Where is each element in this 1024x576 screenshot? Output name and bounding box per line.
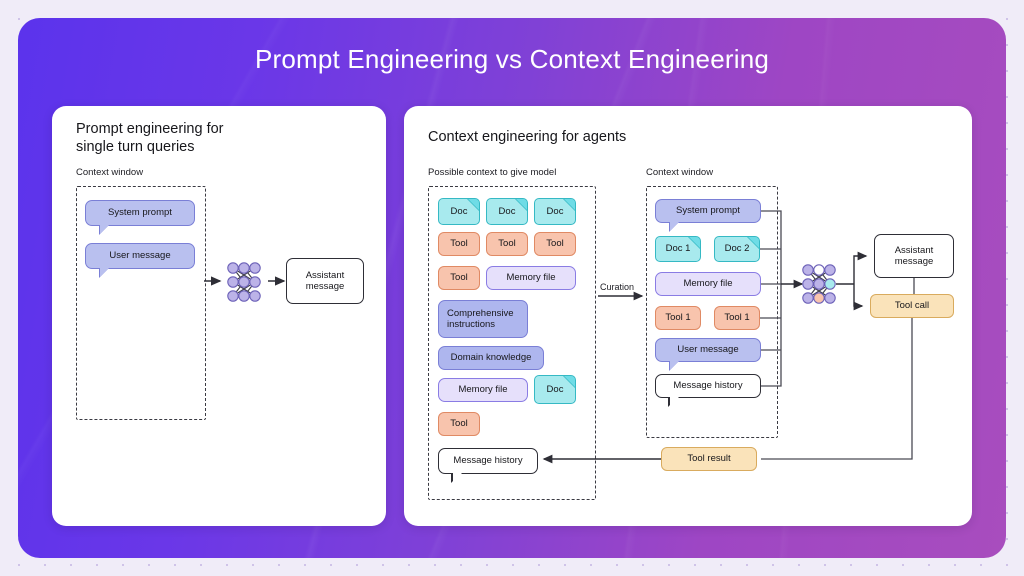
node-doc-4[interactable]: Doc (534, 375, 576, 404)
node-label: User message (109, 250, 170, 262)
node-memory-file-1[interactable]: Memory file (486, 266, 576, 290)
node-cw-tool-2[interactable]: Tool 1 (714, 306, 760, 330)
node-label: Doc 1 (666, 243, 691, 255)
node-label-line1: Assistant (895, 245, 934, 257)
node-cw-message-history[interactable]: Message history (655, 374, 761, 398)
node-doc-3[interactable]: Doc (534, 198, 576, 225)
node-label: Message history (453, 455, 522, 467)
node-memory-file-2[interactable]: Memory file (438, 378, 528, 402)
node-cw-doc-2[interactable]: Doc 2 (714, 236, 760, 262)
node-label: Domain knowledge (451, 352, 532, 364)
node-tool-call[interactable]: Tool call (870, 294, 954, 318)
left-context-window-label: Context window (76, 167, 143, 178)
node-label-line2: message (895, 256, 934, 268)
node-label: Memory file (683, 278, 732, 290)
right-context-window-label: Context window (646, 167, 713, 178)
left-card-title-line1: Prompt engineering for (76, 121, 224, 137)
node-label: Memory file (458, 384, 507, 396)
node-label: Tool (498, 238, 515, 250)
left-card-title-line2: single turn queries (76, 139, 195, 155)
node-label: Doc 2 (725, 243, 750, 255)
left-card-title: Prompt engineering for single turn queri… (76, 120, 224, 156)
node-label: Doc (547, 206, 564, 218)
node-label: Doc (499, 206, 516, 218)
node-tool-3[interactable]: Tool (534, 232, 576, 256)
node-cw-doc-1[interactable]: Doc 1 (655, 236, 701, 262)
node-label: Tool 1 (724, 312, 749, 324)
node-tool-5[interactable]: Tool (438, 412, 480, 436)
node-user-message[interactable]: User message (85, 243, 195, 269)
node-cw-user-message[interactable]: User message (655, 338, 761, 362)
node-label: User message (677, 344, 738, 356)
node-doc-1[interactable]: Doc (438, 198, 480, 225)
node-label: Tool 1 (665, 312, 690, 324)
node-tool-1[interactable]: Tool (438, 232, 480, 256)
node-label: Tool (546, 238, 563, 250)
node-domain-knowledge[interactable]: Domain knowledge (438, 346, 544, 370)
node-comprehensive-instructions[interactable]: Comprehensive instructions (438, 300, 528, 338)
node-assistant-message-right[interactable]: Assistant message (874, 234, 954, 278)
node-label: System prompt (108, 207, 172, 219)
node-cw-tool-1[interactable]: Tool 1 (655, 306, 701, 330)
node-label: Tool result (687, 453, 730, 465)
node-tool-2[interactable]: Tool (486, 232, 528, 256)
node-label-line1: Assistant (306, 270, 345, 282)
context-engineering-card: Context engineering for agents Possible … (404, 106, 972, 526)
prompt-engineering-card: Prompt engineering for single turn queri… (52, 106, 386, 526)
node-label: Tool (450, 418, 467, 430)
node-label-line2: message (306, 281, 345, 293)
node-label: System prompt (676, 205, 740, 217)
page-title: Prompt Engineering vs Context Engineerin… (0, 44, 1024, 75)
node-assistant-message[interactable]: Assistant message (286, 258, 364, 304)
right-card-title: Context engineering for agents (428, 128, 626, 146)
node-label: Tool (450, 238, 467, 250)
node-doc-2[interactable]: Doc (486, 198, 528, 225)
node-label: Comprehensive instructions (447, 308, 523, 331)
node-label: Doc (547, 384, 564, 396)
node-label: Message history (673, 380, 742, 392)
node-tool-result[interactable]: Tool result (661, 447, 757, 471)
possible-context-label: Possible context to give model (428, 167, 556, 178)
node-system-prompt[interactable]: System prompt (85, 200, 195, 226)
node-label: Tool (450, 272, 467, 284)
node-message-history-left[interactable]: Message history (438, 448, 538, 474)
curation-label: Curation (600, 282, 634, 292)
node-label: Doc (451, 206, 468, 218)
node-cw-memory-file[interactable]: Memory file (655, 272, 761, 296)
node-cw-system-prompt[interactable]: System prompt (655, 199, 761, 223)
node-tool-4[interactable]: Tool (438, 266, 480, 290)
node-label: Memory file (506, 272, 555, 284)
node-label: Tool call (895, 300, 929, 312)
